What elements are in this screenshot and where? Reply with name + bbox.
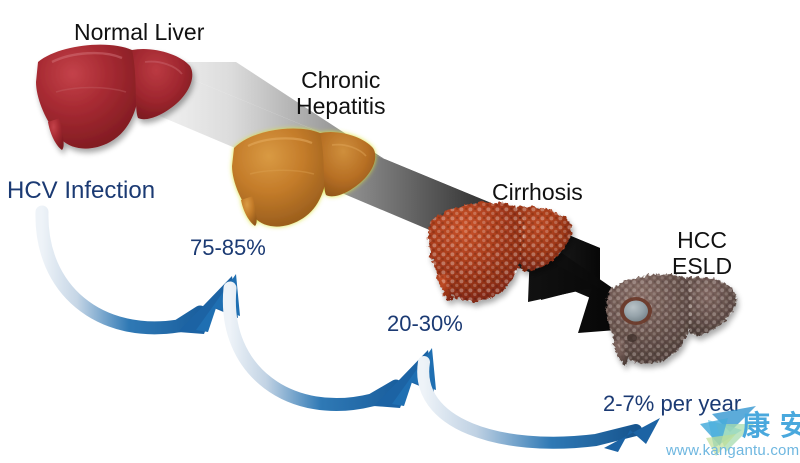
- hcc-small-lesion: [627, 334, 637, 342]
- label-chronic-hepatitis: Chronic Hepatitis: [296, 68, 385, 120]
- cirrhosis-liver-illustration: [428, 202, 571, 302]
- label-cirrhosis: Cirrhosis: [492, 180, 583, 206]
- label-pct-2-7-per-year: 2-7% per year: [603, 392, 741, 417]
- label-hcv-infection: HCV Infection: [7, 178, 155, 205]
- watermark-brand-cn: 康 安 途: [742, 404, 800, 444]
- hcc-tumor-nodule: [620, 297, 652, 325]
- normal-liver-illustration: [36, 45, 192, 150]
- watermark-url: www.kangantu.com: [666, 442, 799, 459]
- label-normal-liver: Normal Liver: [74, 20, 204, 46]
- label-hcc-esld: HCC ESLD: [672, 228, 732, 280]
- label-pct-20-30: 20-30%: [387, 312, 463, 337]
- diagram-canvas: Normal Liver Chronic Hepatitis Cirrhosis…: [0, 0, 800, 463]
- chronic-hepatitis-liver-illustration: [232, 128, 375, 226]
- hcc-esld-liver-illustration: [606, 274, 736, 366]
- label-pct-75-85: 75-85%: [190, 236, 266, 261]
